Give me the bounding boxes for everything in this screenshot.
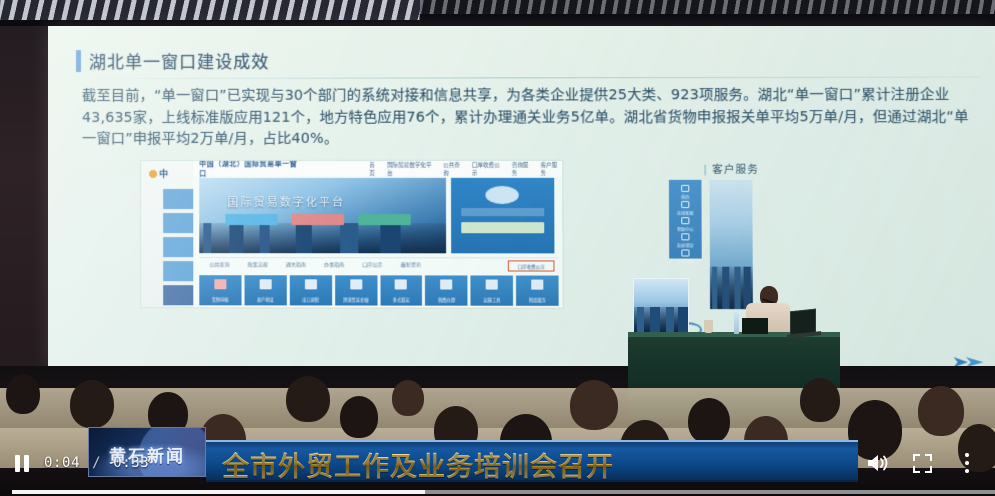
- portal-service-tiles: 货物申报 原产地证 出口退税 跨境贸易金融 多式联运 税费办理 运输工具 物流服…: [199, 275, 558, 306]
- tile-label: 原产地证: [244, 297, 286, 303]
- desk-equipment: [742, 318, 768, 334]
- portal-left-nav-item: [163, 213, 193, 233]
- service-tile: 税费办理: [425, 275, 467, 305]
- slide-title-row: 湖北单一窗口建设成效: [76, 48, 269, 73]
- audience-head: [70, 380, 114, 428]
- hero-title: 国际贸易数字化平台: [227, 194, 345, 210]
- vehicle-icon: [486, 280, 498, 290]
- login-username-field: [461, 208, 544, 216]
- panel-label: 客户服务: [712, 164, 759, 176]
- portal-main: 中国（湖北）国际贸易单一窗口 首页 国际贸易数字化平台 公共查询 口岸收费公示 …: [193, 161, 563, 309]
- ceiling-slats: [0, 0, 421, 20]
- mini-menu-item: 帮助中心: [669, 217, 702, 232]
- water-bottle: [734, 312, 739, 334]
- mini-mobile-screenshot: [710, 180, 753, 309]
- mini-menu-item: 常见问题: [669, 249, 702, 264]
- pause-button[interactable]: [12, 452, 34, 474]
- side-display-board: [633, 278, 689, 334]
- portal-left-nav: 中: [141, 161, 193, 309]
- certificate-icon: [259, 279, 271, 289]
- board-skyline: [634, 307, 688, 333]
- portal-top-menu: 首页 国际贸易数字化平台 公共查询 口岸收费公示 咨询服务 客户服务: [369, 160, 562, 176]
- player-controls: 0:04 / 0:33: [0, 440, 995, 496]
- hero-chip: [225, 214, 277, 225]
- portal-tab: 通关指南: [286, 261, 306, 268]
- slide-title: 湖北单一窗口建设成效: [89, 48, 269, 73]
- portal-tab: 办事指南: [324, 261, 344, 268]
- volume-button[interactable]: [866, 452, 890, 474]
- presentation-slide: 湖北单一窗口建设成效 截至目前，“单一窗口”已实现与30个部门的系统对接和信息共…: [58, 30, 995, 364]
- portal-left-logo: 中: [147, 167, 185, 181]
- audience-head: [570, 380, 618, 430]
- paper-cup: [704, 320, 713, 333]
- portal-screenshot: 中 中国（湖北）国际贸易单一窗口 首页 国际贸易数字化平台: [140, 160, 564, 309]
- service-tile: 跨境贸易金融: [335, 275, 377, 305]
- portal-menu-item: 客户服务: [540, 160, 562, 176]
- logistics-icon: [531, 280, 543, 290]
- portal-tabs-row: 公共查询 政策法规 通关指南 办事指南 口岸公示 最新资讯 口岸收费公示: [199, 257, 558, 271]
- mini-skyline: [710, 267, 753, 309]
- more-options-button[interactable]: [965, 453, 970, 474]
- portal-login-box: [451, 178, 554, 254]
- service-tile: 运输工具: [471, 275, 513, 305]
- service-tile: 货物申报: [199, 275, 241, 305]
- panel-bullet-icon: |: [703, 164, 708, 176]
- laptop: [790, 309, 816, 336]
- portal-brand: 中国（湖北）国际贸易单一窗口: [199, 160, 303, 179]
- progress-bar[interactable]: [0, 488, 995, 494]
- tile-label: 出口退税: [290, 297, 332, 303]
- tile-label: 物流服务: [516, 298, 558, 304]
- tile-label: 税费办理: [425, 298, 467, 304]
- timecode: 0:04 / 0:33: [44, 455, 149, 471]
- finance-icon: [350, 279, 362, 289]
- pause-bar-right: [24, 455, 29, 472]
- portal-menu-item: 公共查询: [443, 160, 465, 176]
- portal-tab: 公共查询: [209, 261, 229, 268]
- portal-top-nav: 中国（湖北）国际贸易单一窗口 首页 国际贸易数字化平台 公共查询 口岸收费公示 …: [193, 161, 562, 176]
- portal-menu-item: 国际贸易数字化平台: [387, 160, 436, 176]
- audience-head: [340, 396, 378, 438]
- audience-head: [688, 398, 730, 444]
- service-tile: 物流服务: [516, 276, 559, 306]
- mini-menu-item: 投诉建议: [669, 233, 702, 248]
- slide-divider: [74, 77, 980, 79]
- audience-head: [6, 374, 40, 414]
- tile-label: 货物申报: [199, 297, 241, 303]
- fullscreen-button[interactable]: [913, 454, 932, 473]
- portal-hero-banner: 国际贸易数字化平台: [199, 178, 446, 253]
- mini-menu-item: 首页: [669, 185, 702, 200]
- ceiling-slats-right: [420, 0, 995, 14]
- tile-label: 跨境贸易金融: [335, 297, 377, 303]
- refund-icon: [305, 279, 317, 289]
- more-dot: [965, 461, 969, 465]
- portal-left-nav-item: [163, 189, 193, 209]
- login-avatar-icon: [485, 186, 518, 204]
- service-tile: 多式联运: [380, 275, 422, 305]
- audience-head: [800, 378, 840, 422]
- portal-tab: 政策法规: [248, 261, 268, 268]
- portal-highlight-tab: 口岸收费公示: [508, 260, 555, 271]
- pause-bar-left: [15, 455, 20, 472]
- progress-fill: [12, 490, 425, 494]
- portal-left-nav-item: [163, 285, 193, 305]
- portal-left-nav-item: [163, 261, 193, 281]
- audience-head: [286, 376, 330, 422]
- portal-tab: 口岸公示: [362, 261, 382, 268]
- multimodal-icon: [395, 279, 407, 289]
- tax-icon: [440, 279, 452, 289]
- fullscreen-corner-br: [925, 466, 932, 473]
- portal-menu-item: 咨询服务: [512, 160, 534, 176]
- portal-tab: 最新资讯: [401, 261, 421, 268]
- portal-menu-item: 首页: [369, 160, 380, 176]
- audience-head: [918, 386, 964, 436]
- hero-chip: [292, 214, 344, 225]
- video-frame[interactable]: 湖北单一窗口建设成效 截至目前，“单一窗口”已实现与30个部门的系统对接和信息共…: [0, 0, 995, 496]
- slide-right-panel-title: |客户服务: [703, 162, 759, 177]
- hero-chip: [358, 214, 410, 225]
- more-dot: [965, 453, 969, 457]
- duration: 0:33: [113, 455, 149, 471]
- tile-label: 多式联运: [380, 298, 422, 304]
- tile-label: 运输工具: [471, 298, 513, 304]
- portal-left-nav-item: [163, 237, 193, 257]
- projection-screen: 湖北单一窗口建设成效 截至目前，“单一窗口”已实现与30个部门的系统对接和信息共…: [48, 26, 995, 371]
- more-dot: [965, 469, 969, 473]
- mini-side-menu: 首页 在线客服 帮助中心 投诉建议 常见问题: [669, 180, 702, 259]
- audience-head: [392, 380, 424, 416]
- service-tile: 出口退税: [290, 275, 332, 305]
- portal-menu-item: 口岸收费公示: [472, 160, 505, 176]
- service-tile: 原产地证: [244, 275, 286, 305]
- video-player: 湖北单一窗口建设成效 截至目前，“单一窗口”已实现与30个部门的系统对接和信息共…: [0, 0, 995, 496]
- time-separator: /: [92, 455, 101, 471]
- login-submit-button: [461, 222, 544, 233]
- hero-skyline: [199, 223, 446, 253]
- volume-high-icon: [866, 452, 890, 474]
- title-accent-bar: [76, 50, 81, 72]
- fullscreen-corner-tl: [913, 454, 920, 461]
- mini-menu-item: 在线客服: [669, 201, 702, 216]
- current-time: 0:04: [44, 455, 80, 471]
- fullscreen-corner-bl: [913, 466, 920, 473]
- fullscreen-corner-tr: [925, 454, 932, 461]
- document-icon: [214, 279, 226, 289]
- slide-body-text: 截至目前，“单一窗口”已实现与30个部门的系统对接和信息共享，为各类企业提供25…: [82, 85, 983, 151]
